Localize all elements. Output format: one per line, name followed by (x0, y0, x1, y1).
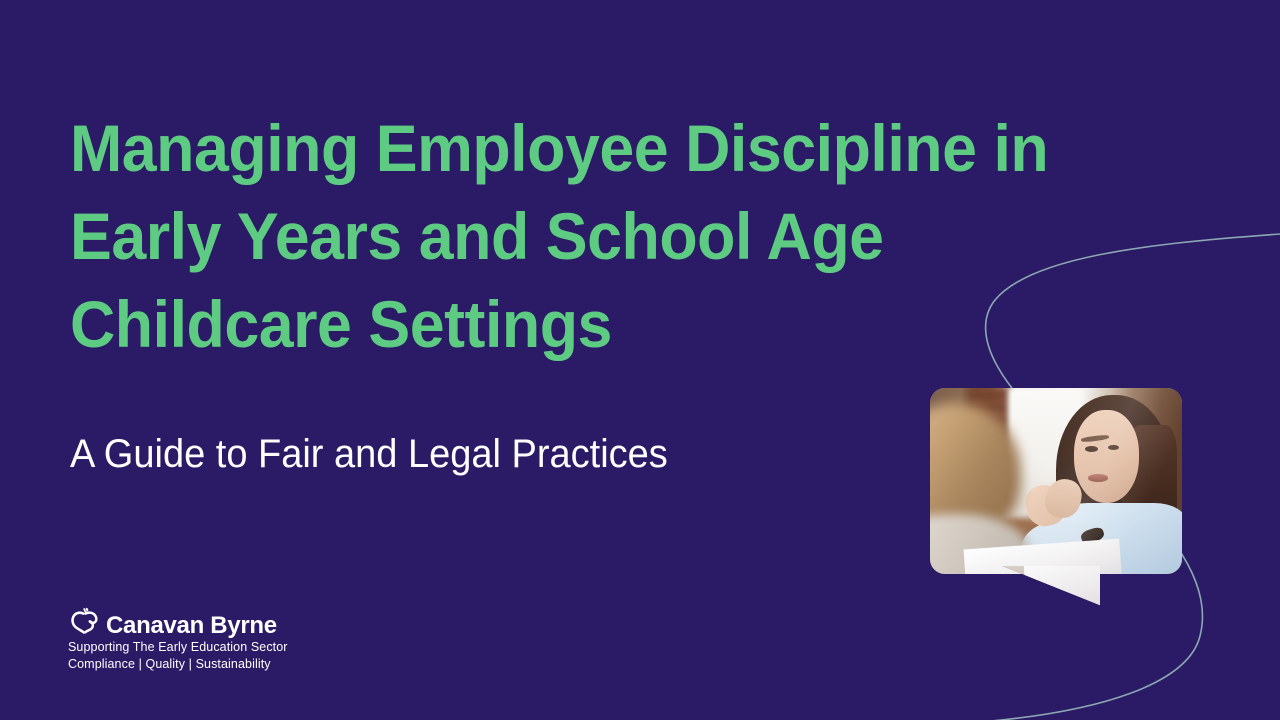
logo-wordmark: Canavan Byrne (106, 613, 277, 638)
logo-tagline-1: Supporting The Early Education Sector (68, 640, 298, 655)
logo-lockup: Canavan Byrne (68, 606, 298, 638)
photo-card-tail (1000, 566, 1100, 606)
presentation-slide: Managing Employee Discipline in Early Ye… (0, 0, 1280, 720)
slide-title: Managing Employee Discipline in Early Ye… (70, 104, 1180, 368)
photo-card (930, 388, 1182, 574)
photo-image (930, 388, 1182, 574)
apple-butterfly-icon (68, 606, 102, 638)
logo-tagline-2: Compliance | Quality | Sustainability (68, 657, 298, 672)
title-line-3: Childcare Settings (70, 280, 1125, 368)
slide-subtitle: A Guide to Fair and Legal Practices (70, 428, 668, 480)
title-line-2: Early Years and School Age (70, 192, 1125, 280)
brand-logo: Canavan Byrne Supporting The Early Educa… (68, 606, 298, 671)
title-line-1: Managing Employee Discipline in (70, 104, 1125, 192)
